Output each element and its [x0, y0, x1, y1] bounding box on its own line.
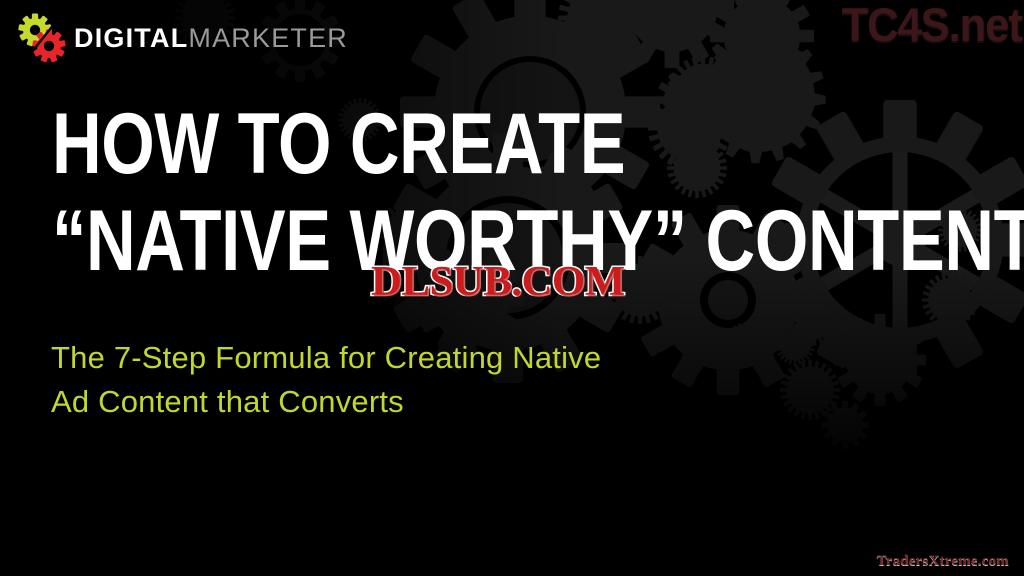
headline-line-1: HOW TO CREATE — [52, 104, 812, 185]
presentation-slide: DIGITALMARKETER HOW TO CREATE “NATIVE WO… — [0, 0, 1024, 576]
digitalmarketer-logo[interactable]: DIGITALMARKETER — [18, 8, 348, 68]
slide-headline: HOW TO CREATE “NATIVE WORTHY” CONTENT — [52, 104, 1002, 282]
logo-word-digital: DIGITAL — [74, 23, 188, 53]
subtitle-line-1: The 7-Step Formula for Creating Native — [51, 336, 601, 380]
watermark-tc4s: TC4S.net — [842, 0, 1022, 49]
subtitle-line-2: Ad Content that Converts — [51, 380, 601, 424]
logo-wordmark: DIGITALMARKETER — [74, 25, 348, 52]
logo-gears-icon — [18, 12, 70, 64]
slide-subtitle: The 7-Step Formula for Creating Native A… — [51, 336, 601, 424]
watermark-tradersxtreme: TradersXtreme.com — [877, 553, 1009, 570]
headline-line-2: “NATIVE WORTHY” CONTENT — [52, 201, 812, 282]
logo-word-marketer: MARKETER — [188, 23, 348, 53]
